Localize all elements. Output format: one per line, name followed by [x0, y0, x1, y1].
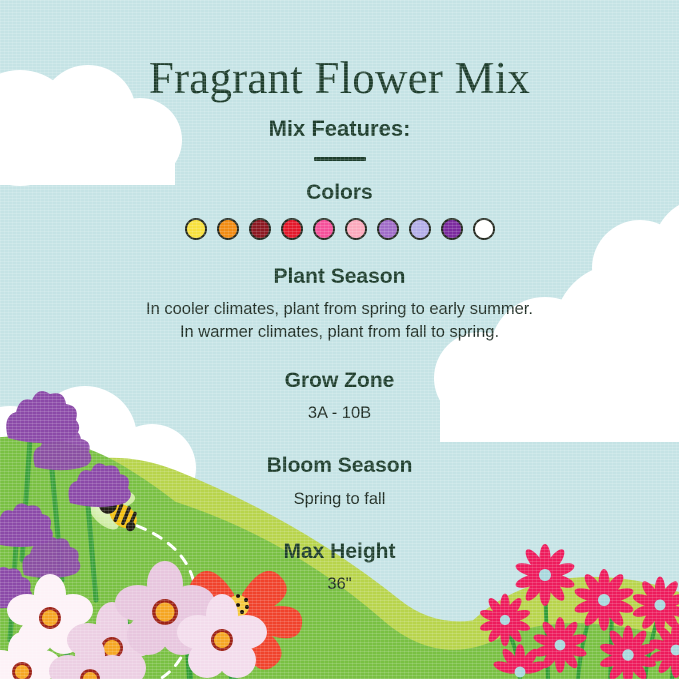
colors-heading: Colors [0, 181, 679, 205]
color-swatch-light-pink [345, 218, 367, 240]
grow-zone-heading: Grow Zone [0, 369, 679, 393]
mix-features-subtitle: Mix Features: [0, 116, 679, 142]
color-swatch-dark-red [249, 218, 271, 240]
max-height-value: 36" [0, 573, 679, 595]
color-swatch-yellow [185, 218, 207, 240]
seed-packet-card: Fragrant Flower Mix Mix Features: Colors… [0, 0, 679, 679]
divider [314, 157, 366, 161]
plant-season-line-1: In cooler climates, plant from spring to… [0, 298, 679, 320]
color-swatch-lavender [409, 218, 431, 240]
color-swatch-deep-purple [441, 218, 463, 240]
grow-zone-value: 3A - 10B [0, 402, 679, 424]
color-swatch-red [281, 218, 303, 240]
bloom-season-value: Spring to fall [0, 488, 679, 510]
page-title: Fragrant Flower Mix [0, 0, 679, 102]
color-swatch-orange [217, 218, 239, 240]
plant-season-heading: Plant Season [0, 265, 679, 289]
color-swatch-list [0, 218, 679, 240]
bloom-season-heading: Bloom Season [0, 454, 679, 478]
color-swatch-purple [377, 218, 399, 240]
plant-season-line-2: In warmer climates, plant from fall to s… [0, 321, 679, 343]
max-height-heading: Max Height [0, 540, 679, 564]
packet-content: Fragrant Flower Mix Mix Features: Colors… [0, 0, 679, 596]
color-swatch-white [473, 218, 495, 240]
color-swatch-hot-pink [313, 218, 335, 240]
